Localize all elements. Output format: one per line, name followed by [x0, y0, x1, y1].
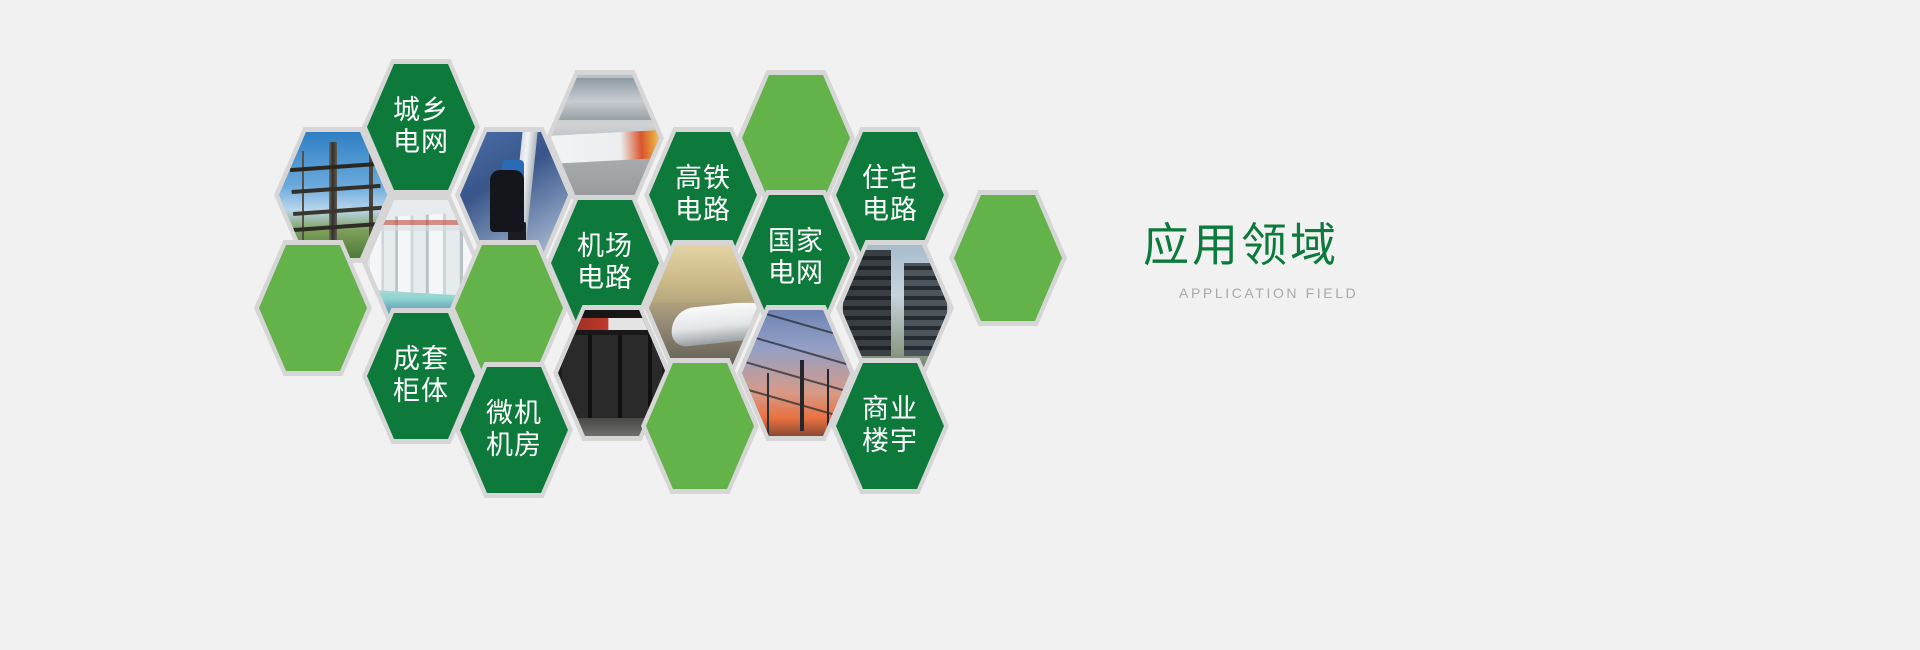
hex-label-commercial-building: 商业 楼宇: [862, 394, 918, 459]
hex-label-state-grid: 国家 电网: [768, 226, 824, 291]
hex-label-assembled-cabinet: 成套 柜体: [393, 344, 449, 409]
hex-label-airport-circuit: 机场 电路: [577, 231, 633, 296]
hex-label-urban-rural-grid: 城乡 电网: [393, 95, 449, 160]
heading-block: 应用领域 APPLICATION FIELD: [1143, 220, 1563, 301]
hex-cell-light-green-left-mid[interactable]: [254, 240, 372, 376]
hex-label-high-speed-rail: 高铁 电路: [675, 163, 731, 228]
hex-cell-building-photo[interactable]: [836, 240, 954, 376]
hex-label-residential-circuit: 住宅 电路: [862, 163, 918, 228]
hex-cell-light-green-far-right[interactable]: [949, 190, 1067, 326]
hex-cell-commercial-building[interactable]: 商业 楼宇: [831, 358, 949, 494]
application-field-banner: 城乡 电网成套 柜体微机 机房机场 电路高铁 电路国家 电网住宅 电路商业 楼宇…: [0, 0, 1920, 650]
page-title: 应用领域: [1143, 220, 1563, 271]
page-subtitle: APPLICATION FIELD: [1179, 285, 1563, 301]
hex-label-micro-computer-room: 微机 机房: [486, 398, 542, 463]
